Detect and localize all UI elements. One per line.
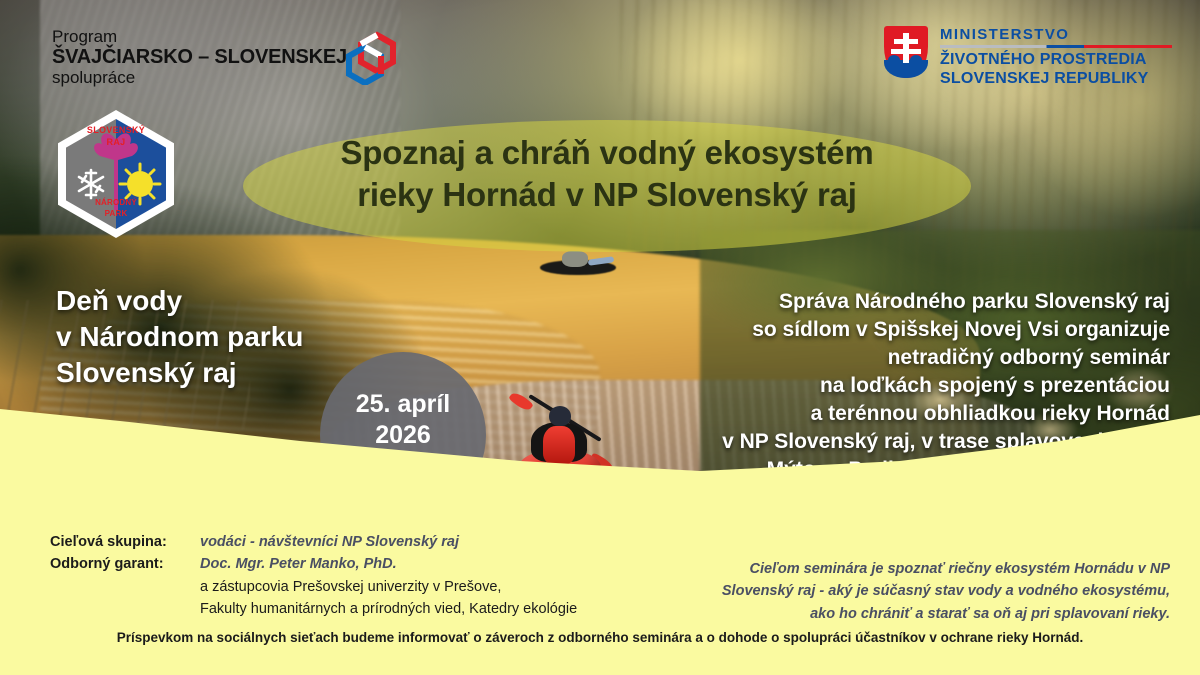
np-emblem-top2: RAJ [58,137,174,147]
headline-line1: Deň vody [56,283,303,319]
footer-note: Príspevkom na sociálnych sieťach budeme … [0,630,1200,645]
slovak-coat-of-arms-icon [884,26,928,78]
program-logo-line2: ŠVAJČIARSKO – SLOVENSKEJ [52,46,347,69]
goal-line2: Slovenský raj - aký je súčasný stav vody… [630,580,1170,602]
ministry-line3: SLOVENSKEJ REPUBLIKY [940,70,1184,89]
ministry-line1: MINISTERSTVO [940,26,1184,43]
description-line5: a terénnou obhliadkou rieky Hornád [570,400,1170,428]
event-headline: Deň vody v Národnom parku Slovenský raj [56,283,303,390]
description-line3: netradičný odborný seminár [570,344,1170,372]
guarantor-value: Doc. Mgr. Peter Manko, PhD. [200,554,397,576]
description-line4: na loďkách spojený s prezentáciou [570,372,1170,400]
program-logo-line3: spolupráce [52,69,347,88]
guarantor-label: Odborný garant: [50,554,200,576]
headline-line2: v Národnom parku [56,319,303,355]
target-group-row: Cieľová skupina: vodáci - návštevníci NP… [50,532,670,554]
guarantor-row: Odborný garant: Doc. Mgr. Peter Manko, P… [50,554,670,576]
target-group-label: Cieľová skupina: [50,532,200,554]
poster: Program ŠVAJČIARSKO – SLOVENSKEJ spolupr… [0,0,1200,675]
description-line2: so sídlom v Spišskej Novej Vsi organizuj… [570,316,1170,344]
title-line2: rieky Hornád v NP Slovenský raj [243,174,971,216]
guarantor-extra-line1: a zástupcovia Prešovskej univerzity v Pr… [200,576,670,598]
goal-line3: ako ho chrániť a starať sa oň aj pri spl… [630,603,1170,625]
ministry-logo: MINISTERSTVO ŽIVOTNÉHO PROSTREDIA SLOVEN… [884,26,1184,102]
np-emblem-bottom1: NÁRODNÝ [58,198,174,207]
description-line1: Správa Národného parku Slovenský raj [570,288,1170,316]
np-emblem-top1: SLOVENSKÝ [58,125,174,135]
date-line1: 25. apríl [356,389,451,420]
headline-line3: Slovenský raj [56,355,303,391]
program-logo: Program ŠVAJČIARSKO – SLOVENSKEJ spolupr… [52,28,347,88]
ministry-rule [940,45,1172,48]
date-line2: 2026 [375,420,431,451]
title-line1: Spoznaj a chráň vodný ekosystém [243,132,971,174]
seminar-goal: Cieľom seminára je spoznať riečny ekosys… [630,558,1170,625]
goal-line1: Cieľom seminára je spoznať riečny ekosys… [630,558,1170,580]
np-emblem-bottom2: PARK [58,209,174,218]
national-park-emblem: SLOVENSKÝ RAJ NÁRODNÝ PARK [58,110,174,238]
audience-block: Cieľová skupina: vodáci - návštevníci NP… [50,532,670,620]
target-group-value: vodáci - návštevníci NP Slovenský raj [200,532,459,554]
program-logo-line1: Program [52,28,347,46]
interlocking-hex-rings-icon [343,31,399,85]
guarantor-extra-line2: Fakulty humanitárnych a prírodných vied,… [200,598,670,620]
ministry-line2: ŽIVOTNÉHO PROSTREDIA [940,51,1184,70]
page-title: Spoznaj a chráň vodný ekosystém rieky Ho… [243,132,971,216]
